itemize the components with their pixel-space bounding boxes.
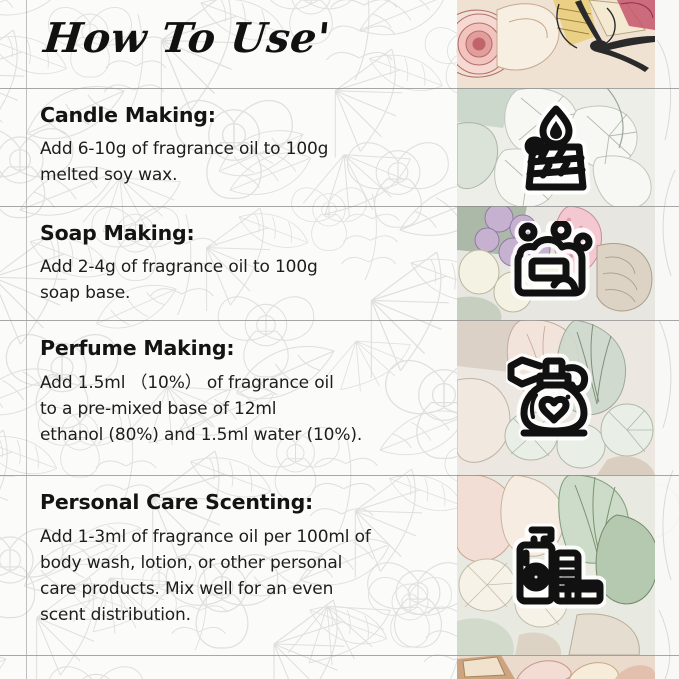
- bottom-floral-band: [457, 655, 655, 679]
- page-title: How To Use': [41, 14, 332, 62]
- roses-and-insect-band: [457, 0, 655, 88]
- body-line: Add 1-3ml of fragrance oil per 100ml of: [40, 524, 430, 550]
- section-candle-making: Candle Making: Add 6-10g of fragrance oi…: [0, 88, 457, 206]
- body-line: Add 6-10g of fragrance oil to 100g: [40, 136, 430, 162]
- leaves-and-blooms-band: [457, 475, 655, 655]
- body-line: melted soy wax.: [40, 162, 430, 188]
- section-heading: Soap Making:: [40, 221, 194, 245]
- white-blossoms-band: [457, 88, 655, 206]
- body-line: Add 2-4g of fragrance oil to 100g: [40, 254, 430, 280]
- section-heading: Personal Care Scenting:: [40, 490, 313, 514]
- body-line: scent distribution.: [40, 602, 430, 628]
- section-perfume-making: Perfume Making: Add 1.5ml （10%） of fragr…: [0, 320, 457, 475]
- how-to-use-infographic: How To Use' Candle Making: Add 6-10g of …: [0, 0, 679, 679]
- body-line: body wash, lotion, or other personal: [40, 550, 430, 576]
- section-personal-care-scenting: Personal Care Scenting: Add 1-3ml of fra…: [0, 475, 457, 655]
- section-body: Add 2-4g of fragrance oil to 100g soap b…: [40, 254, 430, 306]
- body-line: care products. Mix well for an even: [40, 576, 430, 602]
- berries-and-buds-band: [457, 206, 655, 320]
- right-edge-sliver: [655, 0, 679, 679]
- pale-petals-band: [457, 320, 655, 475]
- title-area: How To Use': [0, 0, 457, 88]
- section-body: Add 1.5ml （10%） of fragrance oil to a pr…: [40, 370, 430, 448]
- divider-rule-bottom: [0, 655, 679, 656]
- body-line: ethanol (80%) and 1.5ml water (10%).: [40, 422, 430, 448]
- section-body: Add 1-3ml of fragrance oil per 100ml of …: [40, 524, 430, 628]
- vertical-rule-bottom: [26, 656, 27, 679]
- section-heading: Perfume Making:: [40, 336, 234, 360]
- botanical-illustration-column: [457, 0, 655, 679]
- body-line: Add 1.5ml （10%） of fragrance oil: [40, 370, 430, 396]
- body-line: soap base.: [40, 280, 430, 306]
- section-soap-making: Soap Making: Add 2-4g of fragrance oil t…: [0, 206, 457, 320]
- body-line: to a pre-mixed base of 12ml: [40, 396, 430, 422]
- section-body: Add 6-10g of fragrance oil to 100g melte…: [40, 136, 430, 188]
- section-heading: Candle Making:: [40, 103, 216, 127]
